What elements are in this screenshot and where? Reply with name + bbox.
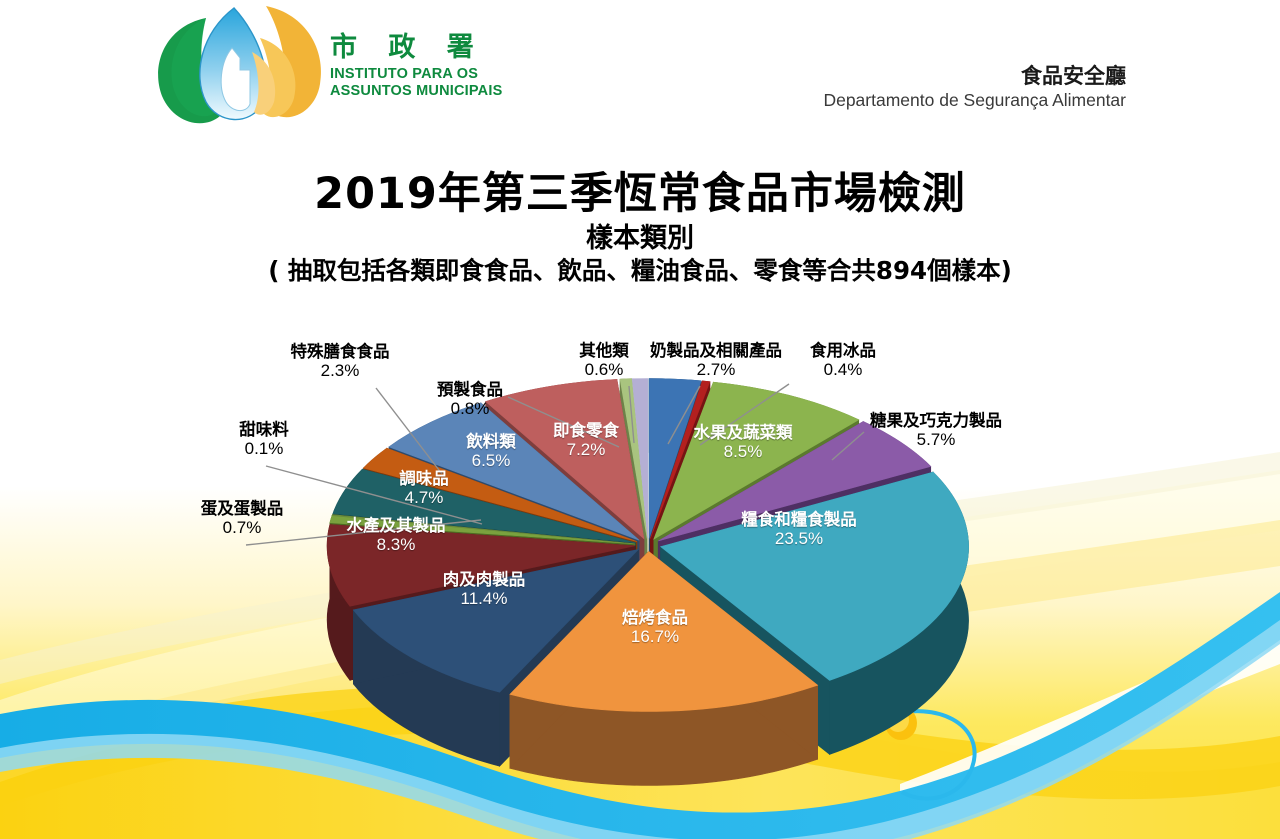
title-block: 2019年第三季恆常食品市場檢測 樣本類別 ( 抽取包括各類即食食品、飲品、糧油… [0,170,1280,285]
slice-label-name: 飲料類 [381,432,601,451]
slice-label-percent: 6.5% [381,451,601,471]
logo-chinese-name: 市 政 署 [330,34,502,61]
page-note: ( 抽取包括各類即食食品、飲品、糧油食品、零食等合共894個樣本) [0,257,1280,285]
slice-label-percent: 0.7% [122,518,362,538]
logo-portuguese-name: INSTITUTO PARA OS ASSUNTOS MUNICIPAIS [330,66,502,100]
slice-label-inside: 焙烤食品16.7% [545,608,765,647]
slice-label-name: 食用冰品 [723,341,963,360]
iam-logo [148,4,348,124]
department-block: 食品安全廳 Departamento de Segurança Alimenta… [823,64,1126,112]
slice-label-percent: 16.7% [545,627,765,647]
slice-label-name: 預製食品 [350,380,590,399]
slice-label-percent: 23.5% [689,529,909,549]
slice-label-percent: 8.3% [286,535,506,555]
slice-label-percent: 5.7% [816,430,1056,450]
slice-label-outside: 食用冰品0.4% [723,341,963,380]
slice-label-percent: 0.1% [144,439,384,459]
logo-wordmark: 市 政 署 INSTITUTO PARA OS ASSUNTOS MUNICIP… [330,34,502,100]
department-name-cn: 食品安全廳 [823,64,1126,89]
slice-label-inside: 肉及肉製品11.4% [374,570,594,609]
slice-label-name: 調味品 [314,469,534,488]
slice-label-percent: 0.4% [723,360,963,380]
slice-label-percent: 0.8% [350,399,590,419]
slice-label-outside: 預製食品0.8% [350,380,590,419]
slice-label-name: 糖果及巧克力製品 [816,411,1056,430]
slice-label-inside: 糧食和糧食製品23.5% [689,510,909,549]
slice-label-inside: 飲料類6.5% [381,432,601,471]
slice-label-percent: 2.3% [220,361,460,381]
slice-label-name: 甜味料 [144,420,384,439]
slice-label-name: 糧食和糧食製品 [689,510,909,529]
page-header: 市 政 署 INSTITUTO PARA OS ASSUNTOS MUNICIP… [0,0,1280,135]
slice-label-name: 肉及肉製品 [374,570,594,589]
slice-label-name: 蛋及蛋製品 [122,499,362,518]
slice-label-percent: 11.4% [374,589,594,609]
slice-label-name: 焙烤食品 [545,608,765,627]
page-title: 2019年第三季恆常食品市場檢測 [0,170,1280,218]
page-subtitle: 樣本類別 [0,223,1280,254]
slice-label-outside: 甜味料0.1% [144,420,384,459]
slice-label-outside: 糖果及巧克力製品5.7% [816,411,1056,450]
slice-label-outside: 蛋及蛋製品0.7% [122,499,362,538]
slice-label-name: 特殊膳食食品 [220,342,460,361]
department-name-pt: Departamento de Segurança Alimentar [823,89,1126,112]
slice-label-outside: 特殊膳食食品2.3% [220,342,460,381]
